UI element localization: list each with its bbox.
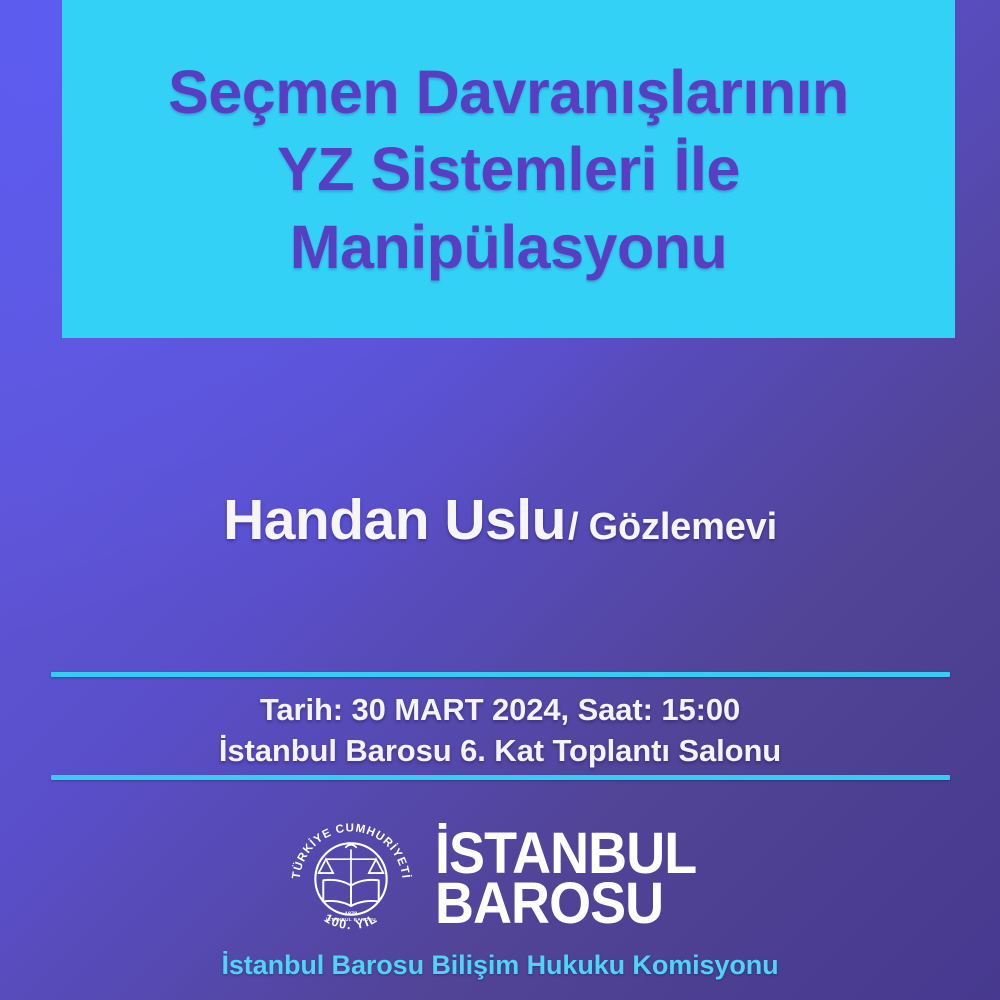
logo-lockup: TÜRKİYE CUMHURİYETİ 100. YIL bbox=[0, 813, 1000, 945]
event-details: Tarih: 30 MART 2024, Saat: 15:00 İstanbu… bbox=[0, 689, 1000, 771]
event-date-time: Tarih: 30 MART 2024, Saat: 15:00 bbox=[0, 689, 1000, 730]
speaker-block: Handan Uslu/ Gözlemevi bbox=[0, 487, 1000, 553]
title-line-1: Seçmen Davranışlarının bbox=[168, 54, 849, 131]
title-line-2: YZ Sistemleri İle bbox=[277, 131, 740, 208]
emblem-inner-text: İSTANBUL BAROSU bbox=[326, 916, 376, 922]
istanbul-barosu-wordmark: İSTANBUL BAROSU bbox=[435, 829, 716, 929]
event-poster: Seçmen Davranışlarının YZ Sistemleri İle… bbox=[0, 0, 1000, 1000]
speaker-affiliation: / Gözlemevi bbox=[568, 506, 777, 548]
divider-rule-bottom bbox=[51, 775, 950, 780]
title-banner: Seçmen Davranışlarının YZ Sistemleri İle… bbox=[62, 0, 955, 338]
istanbul-barosu-emblem-icon: TÜRKİYE CUMHURİYETİ 100. YIL bbox=[285, 813, 417, 945]
emblem-year: 1878 bbox=[344, 911, 356, 917]
divider-rule-top bbox=[51, 672, 950, 677]
wordmark-line-barosu: BAROSU bbox=[435, 879, 663, 929]
footer-caption: İstanbul Barosu Bilişim Hukuku Komisyonu bbox=[0, 950, 1000, 981]
event-venue: İstanbul Barosu 6. Kat Toplantı Salonu bbox=[0, 730, 1000, 771]
speaker-name: Handan Uslu bbox=[223, 488, 566, 552]
title-line-3: Manipülasyonu bbox=[290, 209, 727, 286]
